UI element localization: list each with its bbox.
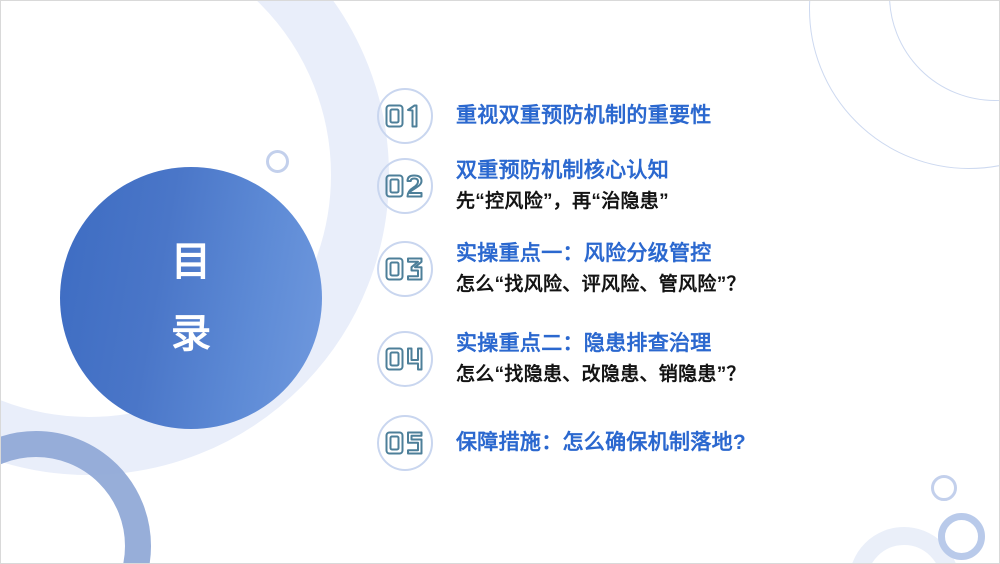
numeral-01-icon <box>385 104 425 128</box>
toc-title-01: 重视双重预防机制的重要性 <box>456 103 712 130</box>
toc-number-badge-05 <box>377 415 433 471</box>
toc-text-05: 保障措施：怎么确保机制落地? <box>456 430 746 457</box>
toc-text-04: 实操重点二：隐患排查治理 怎么“找隐患、改隐患、销隐患”？ <box>456 331 746 388</box>
toc-subtitle-02: 先“控风险”，再“治隐患” <box>456 190 669 215</box>
hero-title-char-bottom: 录 <box>171 314 211 354</box>
decorative-ring-bottom-right-medium <box>938 513 985 560</box>
toc-text-03: 实操重点一：风险分级管控 怎么“找风险、评风险、管风险”？ <box>456 241 746 298</box>
toc-item-03[interactable]: 实操重点一：风险分级管控 怎么“找风险、评风险、管风险”？ <box>377 241 746 298</box>
toc-item-04[interactable]: 实操重点二：隐患排查治理 怎么“找隐患、改隐患、销隐患”？ <box>377 331 746 388</box>
decorative-ring-bottom-right-large <box>849 527 959 564</box>
toc-text-01: 重视双重预防机制的重要性 <box>456 103 712 130</box>
slide-canvas: 目 录 重视双重预防机制的重要性 <box>0 0 1000 564</box>
toc-item-01[interactable]: 重视双重预防机制的重要性 <box>377 88 712 144</box>
decorative-ring-small-top <box>266 150 289 173</box>
toc-title-04: 实操重点二：隐患排查治理 <box>456 331 746 358</box>
toc-number-badge-04 <box>377 331 433 387</box>
toc-title-02: 双重预防机制核心认知 <box>456 158 669 185</box>
toc-number-badge-03 <box>377 241 433 297</box>
decorative-ring-bottom-right-small <box>931 475 957 501</box>
numeral-03-icon <box>385 257 425 281</box>
decorative-arc-top-right-outer <box>809 0 1000 169</box>
decorative-ring-bottom-left <box>0 431 151 564</box>
toc-subtitle-03: 怎么“找风险、评风险、管风险”？ <box>456 273 746 298</box>
toc-text-02: 双重预防机制核心认知 先“控风险”，再“治隐患” <box>456 158 669 215</box>
toc-title-05: 保障措施：怎么确保机制落地? <box>456 430 746 457</box>
numeral-04-icon <box>385 347 425 371</box>
numeral-05-icon <box>385 431 425 455</box>
decorative-arc-top-right-inner <box>889 0 1000 101</box>
toc-item-05[interactable]: 保障措施：怎么确保机制落地? <box>377 415 746 471</box>
hero-title-circle: 目 录 <box>60 167 322 429</box>
toc-number-badge-01 <box>377 88 433 144</box>
toc-title-03: 实操重点一：风险分级管控 <box>456 241 746 268</box>
hero-title-char-top: 目 <box>171 242 211 282</box>
toc-number-badge-02 <box>377 158 433 214</box>
numeral-02-icon <box>385 174 425 198</box>
toc-item-02[interactable]: 双重预防机制核心认知 先“控风险”，再“治隐患” <box>377 158 669 215</box>
toc-subtitle-04: 怎么“找隐患、改隐患、销隐患”？ <box>456 363 746 388</box>
